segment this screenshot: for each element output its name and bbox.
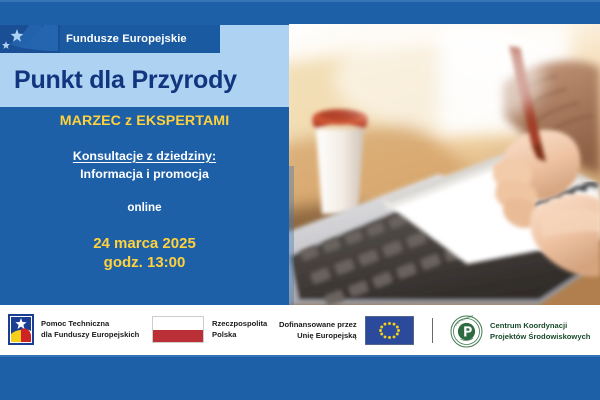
footer-logo-european-union: Dofinansowane przez Unię Europejską bbox=[279, 316, 414, 345]
footer-logo-ckps-text: Centrum Koordynacji Projektów Środowisko… bbox=[490, 321, 590, 343]
footer-pl-line2: Polska bbox=[212, 330, 236, 339]
footer-fe-line1: Pomoc Techniczna bbox=[41, 319, 109, 328]
poster-text-column: Fundusze Europejskie Punkt dla Przyrody … bbox=[0, 25, 289, 305]
fundusze-europejskie-stars-logo-icon bbox=[0, 25, 60, 53]
title-band: Punkt dla Przyrody bbox=[0, 53, 289, 107]
consultation-block: Konsultacje z dziedziny: Informacja i pr… bbox=[0, 147, 289, 181]
page-title: Punkt dla Przyrody bbox=[0, 68, 237, 93]
hero-photo bbox=[289, 24, 600, 305]
footer-logo-fundusze-europejskie: Pomoc Techniczna dla Funduszy Europejski… bbox=[8, 314, 139, 345]
brand-bar-label: Fundusze Europejskie bbox=[66, 25, 220, 53]
footer-logo-ckps: LAS PAŃSTWOWY Centrum Koordynacji Projek… bbox=[450, 315, 590, 348]
event-time: godz. 13:00 bbox=[0, 253, 289, 272]
brand-bar: Fundusze Europejskie bbox=[0, 25, 289, 53]
top-band-highlight bbox=[0, 0, 600, 2]
poster: Fundusze Europejskie Punkt dla Przyrody … bbox=[0, 0, 600, 400]
european-union-flag-icon bbox=[365, 316, 414, 345]
event-format: online bbox=[0, 201, 289, 214]
fundusze-europejskie-pomoc-techniczna-logo-icon bbox=[8, 314, 34, 345]
footer-fe-line2: dla Funduszy Europejskich bbox=[41, 330, 139, 339]
bottom-band-highlight bbox=[0, 355, 600, 357]
poland-flag-icon bbox=[152, 316, 204, 343]
bottom-accent-band bbox=[0, 355, 600, 400]
footer-ckps-line1: Centrum Koordynacji bbox=[490, 321, 567, 330]
event-date: 24 marca 2025 bbox=[0, 234, 289, 253]
footer-logo-poland-text: Rzeczpospolita Polska bbox=[212, 319, 267, 341]
footer-logo-poland: Rzeczpospolita Polska bbox=[152, 316, 267, 343]
top-accent-band bbox=[0, 0, 600, 25]
brand-bar-light-fill bbox=[220, 25, 289, 53]
footer-pl-line1: Rzeczpospolita bbox=[212, 319, 267, 328]
footer-eu-line1: Dofinansowane przez bbox=[279, 320, 357, 329]
footer-logo-fundusze-europejskie-text: Pomoc Techniczna dla Funduszy Europejski… bbox=[41, 319, 139, 341]
footer-eu-line2: Unię Europejską bbox=[297, 331, 357, 340]
footer-divider bbox=[432, 318, 433, 343]
footer-logo-eu-text: Dofinansowane przez Unię Europejską bbox=[279, 320, 357, 342]
footer-ckps-line2: Projektów Środowiskowych bbox=[490, 332, 590, 341]
event-datetime: 24 marca 2025 godz. 13:00 bbox=[0, 234, 289, 272]
consultation-heading: Konsultacje z dziedziny: bbox=[73, 149, 216, 163]
ckps-seal-logo-icon: LAS PAŃSTWOWY bbox=[450, 315, 483, 348]
footer-logo-bar: Pomoc Techniczna dla Funduszy Europejski… bbox=[0, 305, 600, 355]
poster-subtitle: MARZEC z EKSPERTAMI bbox=[0, 113, 289, 129]
consultation-topic: Informacja i promocja bbox=[0, 167, 289, 181]
